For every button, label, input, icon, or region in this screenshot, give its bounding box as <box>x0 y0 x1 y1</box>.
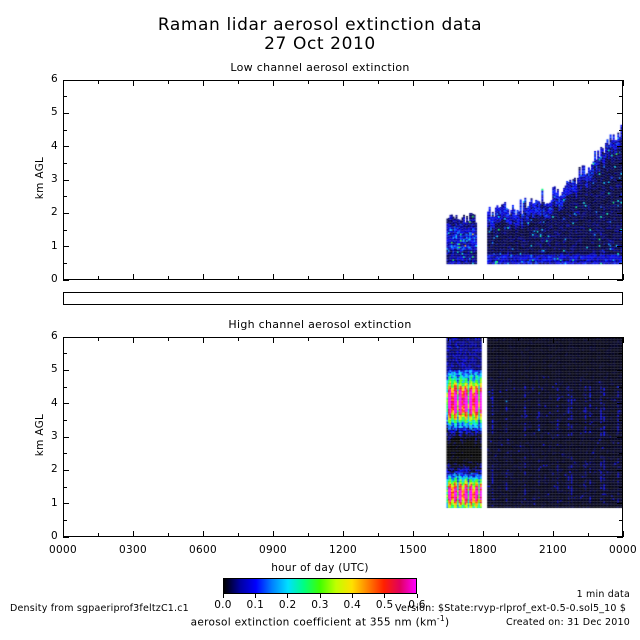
figure-root: Raman lidar aerosol extinction data 27 O… <box>0 0 640 640</box>
x-minor-tick-mark <box>168 337 169 341</box>
x-minor-tick-mark <box>448 80 449 84</box>
x-tick-mark <box>553 531 554 537</box>
y-minor-tick-mark <box>619 420 623 421</box>
x-minor-tick-mark <box>378 533 379 537</box>
x-minor-tick-mark <box>378 276 379 280</box>
x-minor-tick-mark <box>588 337 589 341</box>
x-minor-tick-mark <box>308 533 309 537</box>
x-tick-mark <box>63 274 64 280</box>
x-tick-mark <box>133 531 134 537</box>
x-minor-tick-mark <box>238 533 239 537</box>
x-tick-label: 0900 <box>243 544 303 556</box>
x-tick-mark <box>623 337 624 343</box>
y-tick-label: 1 <box>28 497 58 509</box>
x-tick-label: 1800 <box>453 544 513 556</box>
y-minor-tick-mark <box>619 387 623 388</box>
x-tick-mark <box>133 80 134 86</box>
version-note: Version: $State:rvyp-rlprof_ext-0.5-0.so… <box>395 603 626 614</box>
y-tick-mark <box>63 403 69 404</box>
x-minor-tick-mark <box>308 80 309 84</box>
y-minor-tick-mark <box>63 130 67 131</box>
y-tick-mark <box>63 370 69 371</box>
x-minor-tick-mark <box>98 276 99 280</box>
y-minor-tick-mark <box>63 196 67 197</box>
x-tick-mark <box>623 274 624 280</box>
y-tick-label: 6 <box>28 330 58 342</box>
high-channel-plot-area <box>63 337 623 537</box>
y-minor-tick-mark <box>619 520 623 521</box>
y-minor-tick-mark <box>63 96 67 97</box>
x-minor-tick-mark <box>238 276 239 280</box>
x-tick-mark <box>203 80 204 86</box>
colorbar-tick-mark <box>352 594 353 598</box>
y-tick-mark <box>617 146 623 147</box>
y-tick-mark <box>63 470 69 471</box>
figure-title-line1: Raman lidar aerosol extinction data <box>0 16 640 35</box>
x-minor-tick-mark <box>518 80 519 84</box>
x-tick-mark <box>553 80 554 86</box>
y-minor-tick-mark <box>619 453 623 454</box>
colorbar-tick-mark <box>255 594 256 598</box>
low-channel-heatmap <box>64 81 622 279</box>
low-channel-plot-area <box>63 80 623 280</box>
high-channel-heatmap <box>64 338 622 536</box>
high-channel-y-axis-title: km AGL <box>34 390 46 480</box>
y-minor-tick-mark <box>619 353 623 354</box>
x-tick-mark <box>273 274 274 280</box>
x-tick-mark <box>553 274 554 280</box>
figure-title-line2: 27 Oct 2010 <box>0 35 640 54</box>
y-tick-label: 5 <box>28 106 58 118</box>
x-tick-mark <box>273 80 274 86</box>
low-channel-y-axis-title: km AGL <box>34 133 46 223</box>
density-source-note: Density from sgpaeriprof3feltzC1.c1 <box>10 603 189 614</box>
y-minor-tick-mark <box>619 130 623 131</box>
resolution-note: 1 min data <box>430 589 630 600</box>
x-tick-mark <box>273 531 274 537</box>
x-tick-mark <box>63 337 64 343</box>
x-minor-tick-mark <box>448 276 449 280</box>
x-tick-mark <box>553 337 554 343</box>
x-tick-mark <box>343 80 344 86</box>
x-minor-tick-mark <box>518 276 519 280</box>
created-on-note: Created on: 31 Dec 2010 <box>430 617 630 628</box>
x-axis-title: hour of day (UTC) <box>0 562 640 574</box>
x-minor-tick-mark <box>378 337 379 341</box>
x-tick-label: 1200 <box>313 544 373 556</box>
y-tick-mark <box>63 80 69 81</box>
colorbar <box>223 578 417 594</box>
y-tick-label: 1 <box>28 240 58 252</box>
x-tick-mark <box>483 337 484 343</box>
y-minor-tick-mark <box>619 230 623 231</box>
x-tick-label: 0300 <box>103 544 163 556</box>
y-tick-label: 0 <box>28 273 58 285</box>
x-minor-tick-mark <box>588 80 589 84</box>
y-tick-mark <box>63 213 69 214</box>
y-tick-mark <box>63 337 69 338</box>
x-tick-mark <box>413 274 414 280</box>
colorbar-tick-mark <box>384 594 385 598</box>
x-tick-mark <box>413 80 414 86</box>
y-tick-mark <box>617 213 623 214</box>
x-tick-label: 1500 <box>383 544 443 556</box>
x-tick-mark <box>343 274 344 280</box>
x-tick-label: 0000 <box>593 544 640 556</box>
x-tick-mark <box>483 531 484 537</box>
colorbar-tick-mark <box>417 594 418 598</box>
y-tick-label: 6 <box>28 73 58 85</box>
y-tick-mark <box>63 246 69 247</box>
y-tick-mark <box>617 403 623 404</box>
y-tick-mark <box>63 437 69 438</box>
colorbar-gradient <box>224 579 416 593</box>
x-minor-tick-mark <box>378 80 379 84</box>
x-tick-mark <box>343 337 344 343</box>
y-minor-tick-mark <box>63 353 67 354</box>
figure-title: Raman lidar aerosol extinction data 27 O… <box>0 16 640 54</box>
y-tick-mark <box>617 113 623 114</box>
low-channel-title: Low channel aerosol extinction <box>0 61 640 74</box>
y-minor-tick-mark <box>619 196 623 197</box>
y-tick-label: 0 <box>28 530 58 542</box>
y-minor-tick-mark <box>63 387 67 388</box>
y-tick-mark <box>617 180 623 181</box>
y-tick-mark <box>63 113 69 114</box>
y-minor-tick-mark <box>63 487 67 488</box>
x-tick-label: 2100 <box>523 544 583 556</box>
y-minor-tick-mark <box>63 420 67 421</box>
x-minor-tick-mark <box>588 533 589 537</box>
x-minor-tick-mark <box>168 276 169 280</box>
x-tick-mark <box>623 531 624 537</box>
y-tick-mark <box>617 246 623 247</box>
colorbar-title-text: aerosol extinction coefficient at 355 nm… <box>191 617 437 629</box>
y-tick-mark <box>63 280 69 281</box>
x-minor-tick-mark <box>448 533 449 537</box>
x-tick-mark <box>133 337 134 343</box>
y-tick-mark <box>63 537 69 538</box>
x-tick-mark <box>203 274 204 280</box>
y-minor-tick-mark <box>619 487 623 488</box>
x-minor-tick-mark <box>518 533 519 537</box>
x-minor-tick-mark <box>98 80 99 84</box>
colorbar-tick-mark <box>320 594 321 598</box>
y-tick-label: 5 <box>28 363 58 375</box>
data-availability-strip <box>63 292 623 305</box>
x-minor-tick-mark <box>98 533 99 537</box>
x-minor-tick-mark <box>308 337 309 341</box>
x-tick-mark <box>413 531 414 537</box>
x-tick-mark <box>483 80 484 86</box>
x-tick-label: 0600 <box>173 544 233 556</box>
x-tick-mark <box>203 337 204 343</box>
x-tick-mark <box>273 337 274 343</box>
x-minor-tick-mark <box>238 337 239 341</box>
y-minor-tick-mark <box>619 163 623 164</box>
x-tick-mark <box>63 80 64 86</box>
y-minor-tick-mark <box>63 163 67 164</box>
y-tick-mark <box>617 370 623 371</box>
x-tick-mark <box>483 274 484 280</box>
y-tick-mark <box>617 503 623 504</box>
x-minor-tick-mark <box>308 276 309 280</box>
y-minor-tick-mark <box>619 96 623 97</box>
x-tick-mark <box>63 531 64 537</box>
y-minor-tick-mark <box>63 520 67 521</box>
colorbar-tick-mark <box>223 594 224 598</box>
x-minor-tick-mark <box>588 276 589 280</box>
x-minor-tick-mark <box>518 337 519 341</box>
x-tick-label: 0000 <box>33 544 93 556</box>
y-tick-mark <box>63 146 69 147</box>
x-minor-tick-mark <box>238 80 239 84</box>
x-minor-tick-mark <box>168 533 169 537</box>
y-minor-tick-mark <box>619 263 623 264</box>
x-tick-mark <box>343 531 344 537</box>
y-minor-tick-mark <box>63 230 67 231</box>
x-tick-mark <box>413 337 414 343</box>
colorbar-tick-mark <box>287 594 288 598</box>
high-channel-title: High channel aerosol extinction <box>0 318 640 331</box>
x-minor-tick-mark <box>168 80 169 84</box>
y-minor-tick-mark <box>63 453 67 454</box>
y-tick-mark <box>617 470 623 471</box>
x-tick-mark <box>203 531 204 537</box>
x-tick-mark <box>623 80 624 86</box>
y-tick-mark <box>63 503 69 504</box>
y-tick-mark <box>63 180 69 181</box>
x-minor-tick-mark <box>448 337 449 341</box>
x-minor-tick-mark <box>98 337 99 341</box>
y-tick-mark <box>617 437 623 438</box>
y-minor-tick-mark <box>63 263 67 264</box>
x-tick-mark <box>133 274 134 280</box>
